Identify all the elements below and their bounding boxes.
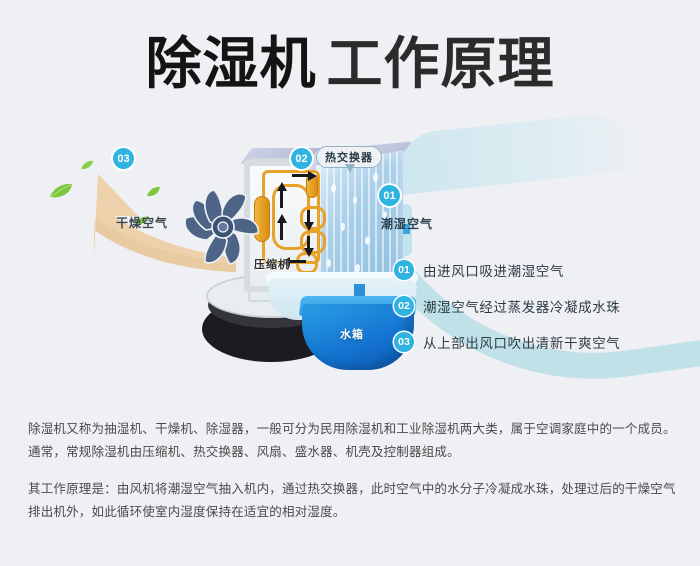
water-tank-label: 水箱 bbox=[322, 326, 382, 342]
legend-item: 02 潮湿空气经过蒸发器冷凝成水珠 bbox=[394, 288, 694, 324]
flow-arrow-down bbox=[304, 248, 314, 257]
legend-item: 03 从上部出风口吹出清新干爽空气 bbox=[394, 324, 694, 360]
legend-badge-02: 02 bbox=[394, 296, 414, 316]
legend-badge-03: 03 bbox=[394, 332, 414, 352]
legend-text-01: 由进风口吸进潮湿空气 bbox=[423, 260, 564, 280]
page-root: 除湿机工作原理 bbox=[0, 0, 700, 566]
leaf-icon bbox=[48, 182, 74, 200]
legend-badge-01: 01 bbox=[394, 260, 414, 280]
dry-air-label: 干燥空气 bbox=[116, 214, 168, 231]
page-title-part2: 工作原理 bbox=[327, 32, 555, 95]
flow-arrow-stem bbox=[280, 190, 283, 208]
flow-arrow-stem bbox=[280, 222, 283, 240]
humid-air-label: 潮湿空气 bbox=[381, 215, 433, 232]
legend-item: 01 由进风口吸进潮湿空气 bbox=[394, 252, 694, 288]
badge-01: 01 bbox=[379, 185, 400, 206]
page-title-part1: 除湿机 bbox=[146, 32, 317, 95]
badge-03: 03 bbox=[113, 148, 134, 169]
flow-arrow-down bbox=[304, 222, 314, 231]
flow-arrow-up bbox=[277, 182, 287, 191]
fan-icon bbox=[180, 184, 266, 270]
description-paragraph-1: 除湿机又称为抽湿机、干燥机、除湿器，一般可分为民用除湿机和工业除湿机两大类，属于… bbox=[28, 418, 676, 464]
legend-text-03: 从上部出风口吹出清新干爽空气 bbox=[423, 332, 620, 352]
bubble-tail bbox=[345, 164, 355, 173]
description-section: 除湿机又称为抽湿机、干燥机、除湿器，一般可分为民用除湿机和工业除湿机两大类，属于… bbox=[28, 418, 676, 524]
legend-text-02: 潮湿空气经过蒸发器冷凝成水珠 bbox=[423, 296, 620, 316]
flow-arrow-right bbox=[308, 171, 317, 181]
flow-arrow-up bbox=[277, 214, 287, 223]
badge-02: 02 bbox=[291, 148, 312, 169]
legend-list: 01 由进风口吸进潮湿空气 02 潮湿空气经过蒸发器冷凝成水珠 03 从上部出风… bbox=[394, 252, 694, 360]
leaf-icon bbox=[146, 186, 161, 198]
description-paragraph-2: 其工作原理是：由风机将潮湿空气抽入机内，通过热交换器，此时空气中的水分子冷凝成水… bbox=[28, 478, 676, 524]
page-title: 除湿机工作原理 bbox=[0, 32, 700, 96]
dehumidifier-machine: 压缩机 水箱 bbox=[196, 144, 416, 394]
leaf-icon bbox=[80, 160, 94, 171]
